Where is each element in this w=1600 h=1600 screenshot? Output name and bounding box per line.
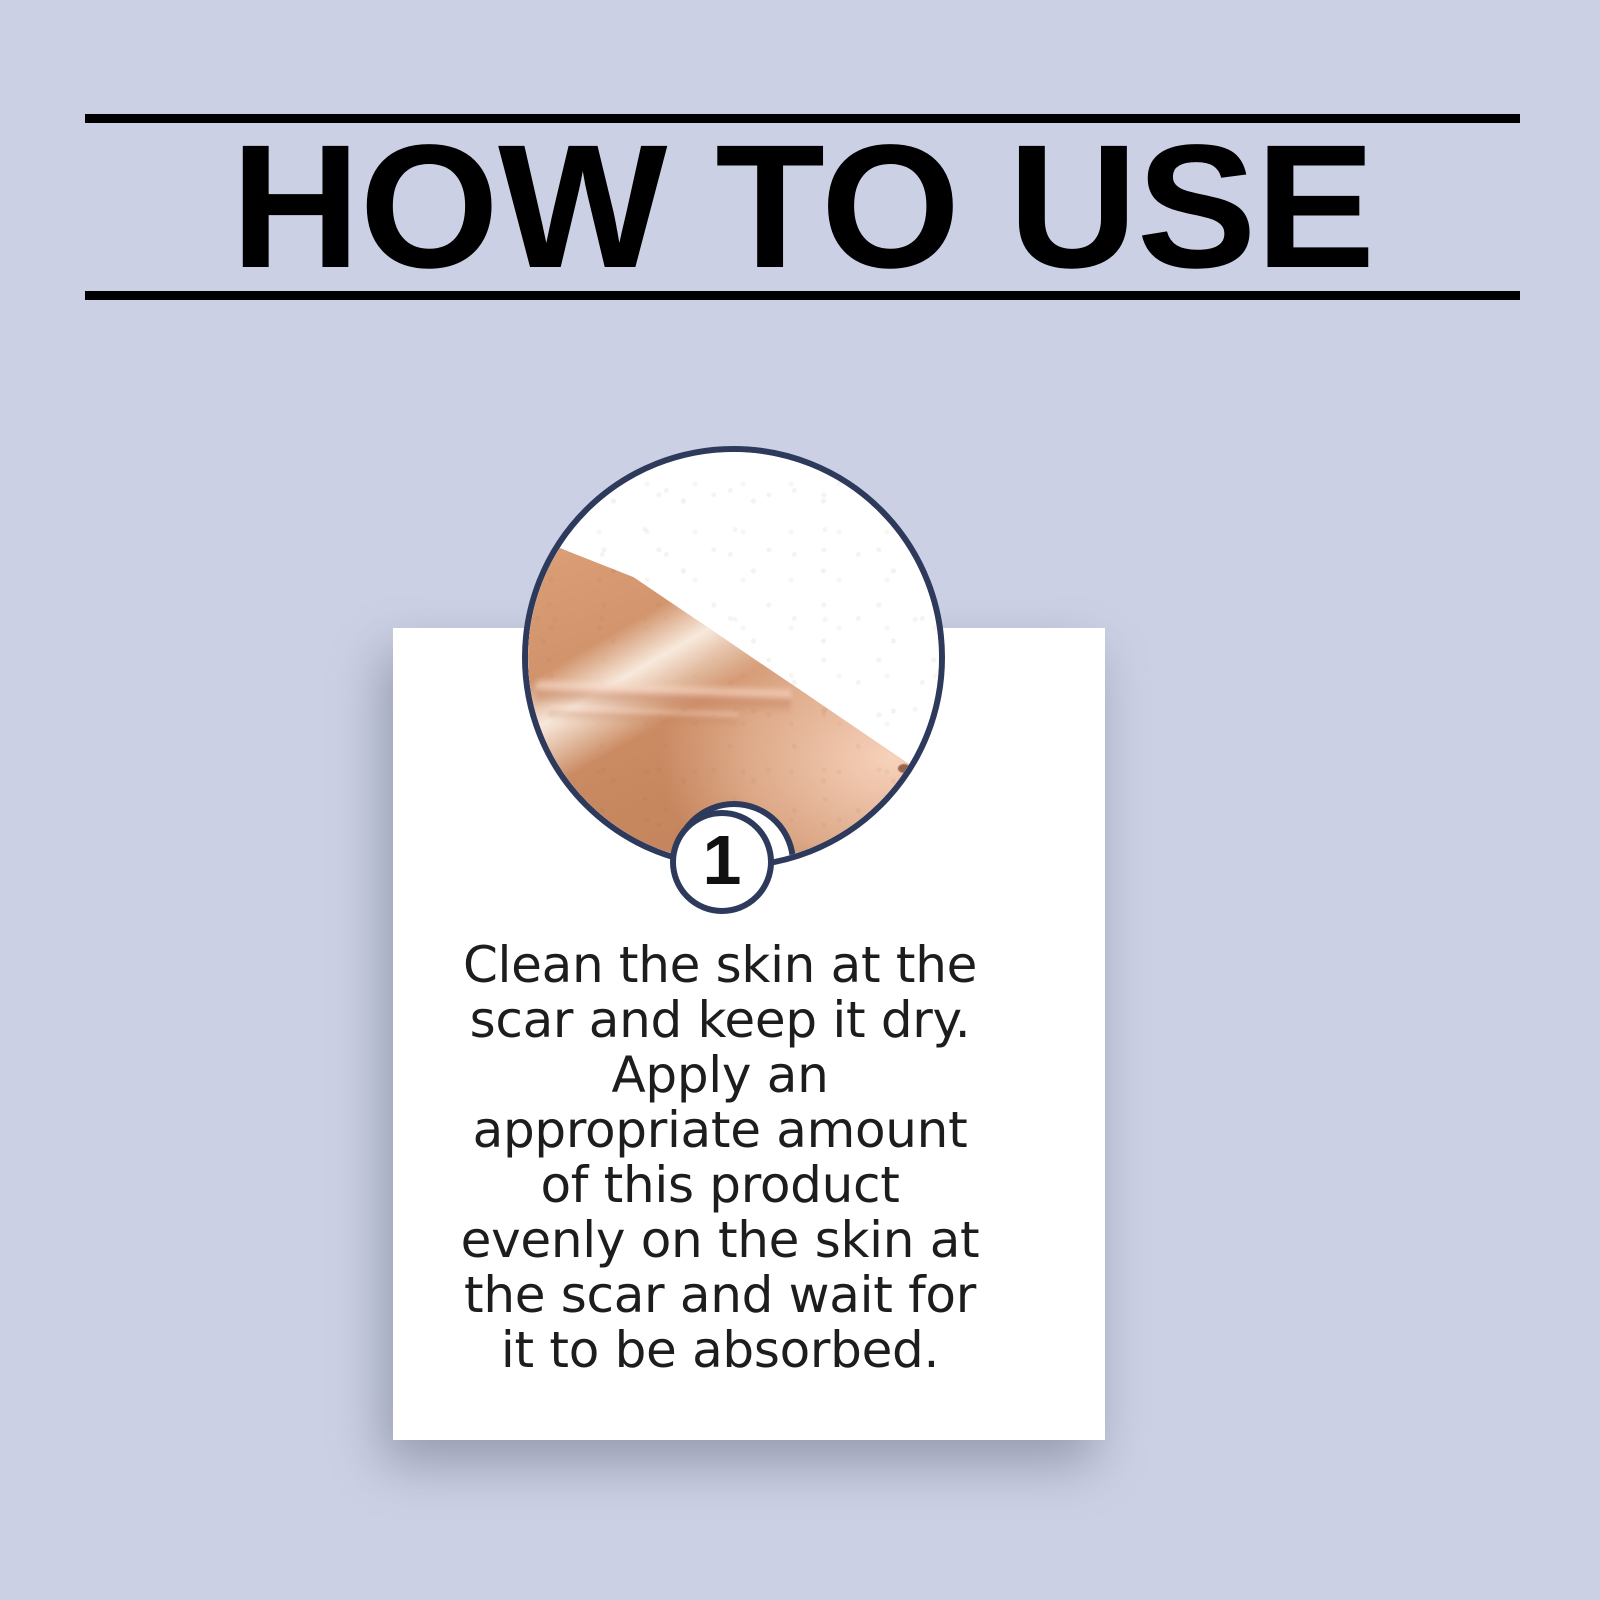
page-title-row: HOW TO USE — [85, 123, 1520, 291]
skin-mole — [898, 764, 910, 773]
how-to-use-infographic: { "page": { "background_color": "#cbd0e4… — [0, 0, 1600, 1600]
step-photo-circle — [522, 446, 945, 869]
page-title: HOW TO USE — [231, 119, 1374, 295]
header: HOW TO USE — [85, 114, 1520, 300]
step-number-badge: 1 — [670, 810, 774, 914]
step-description: Clean the skin at the scar and keep it d… — [460, 938, 980, 1378]
step-number-label: 1 — [703, 825, 742, 895]
